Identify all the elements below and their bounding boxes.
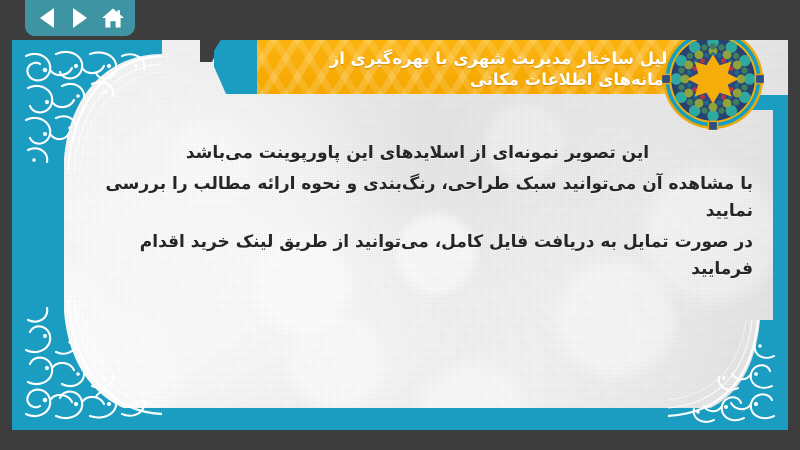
navigation-bar	[25, 0, 135, 36]
slide-body-text: این تصویر نمونه‌ای از اسلایدهای این پاور…	[82, 140, 753, 287]
slide-title: تحلیل ساختار مدیریت شهری با بهره‌گیری از…	[330, 48, 686, 90]
frame-right-band	[773, 95, 788, 430]
frame-bottom-band	[12, 408, 788, 430]
body-line: با مشاهده آن می‌توانید سبک طراحی، رنگ‌بن…	[82, 171, 753, 226]
home-button[interactable]	[101, 6, 125, 30]
triangle-right-icon	[73, 8, 87, 28]
forward-button[interactable]	[68, 6, 92, 30]
home-icon	[101, 7, 125, 29]
body-line: این تصویر نمونه‌ای از اسلایدهای این پاور…	[82, 140, 753, 168]
islamic-medallion-icon	[662, 40, 764, 130]
frame-left-band	[12, 40, 64, 430]
title-banner: تحلیل ساختار مدیریت شهری با بهره‌گیری از…	[257, 40, 724, 94]
back-button[interactable]	[35, 6, 59, 30]
triangle-left-icon	[40, 8, 54, 28]
body-line: در صورت تمایل به دریافت فایل کامل، می‌تو…	[82, 229, 753, 284]
presentation-slide: این تصویر نمونه‌ای از اسلایدهای این پاور…	[12, 40, 788, 430]
